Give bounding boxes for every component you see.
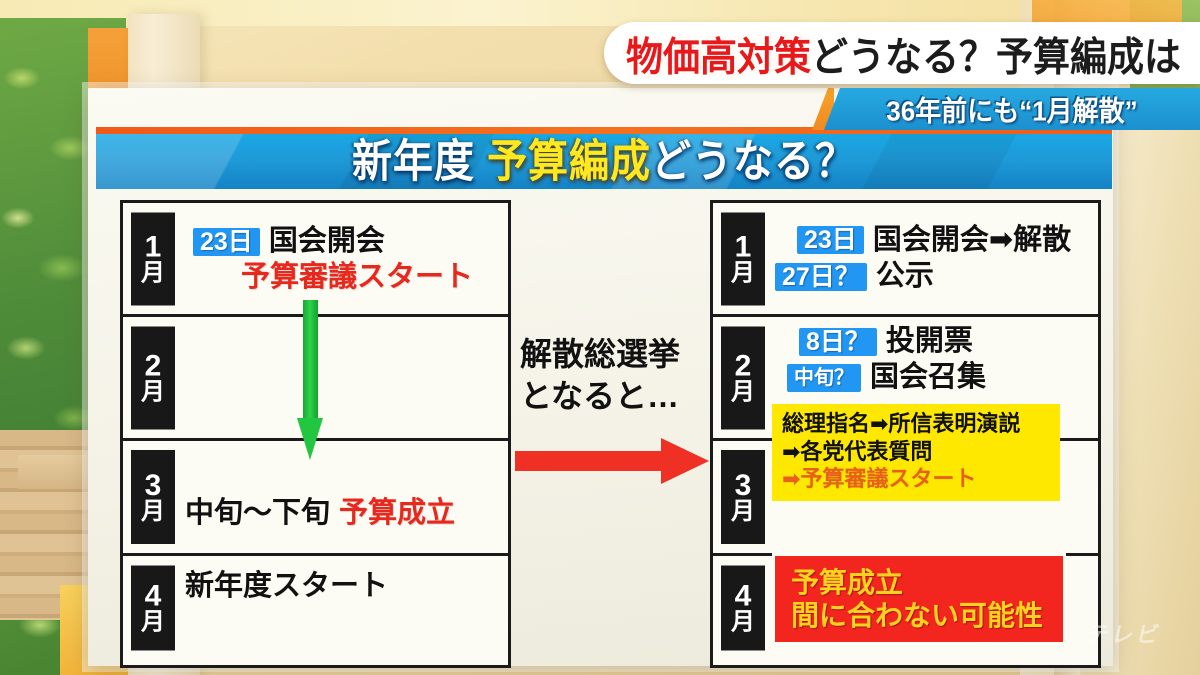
event-text: 新年度スタート (185, 570, 388, 603)
banner-title-part2: どうなる？ (651, 137, 856, 186)
month-number: 2 (145, 351, 162, 380)
month-unit: 月 (141, 500, 165, 524)
yellow-callout-box: 総理指名➡所信表明演説 ➡各党代表質問 ➡予算審議スタート (772, 404, 1060, 501)
month-unit: 月 (731, 610, 755, 634)
row-content: 中旬〜下旬 予算成立 (185, 441, 500, 553)
banner-title-text: 新年度 予算編成どうなる？ (352, 139, 856, 184)
month-chip: 2 月 (721, 326, 765, 429)
day-badge: 27日？ (775, 263, 867, 291)
banner-title-part1: 新年度 (352, 137, 487, 186)
middle-caption-line1: 解散総選挙 (520, 334, 710, 376)
wood-shelf-left (18, 455, 98, 489)
month-unit: 月 (141, 610, 165, 634)
month-number: 3 (145, 471, 162, 500)
month-number: 4 (735, 581, 752, 610)
screenshot-stage: 新年度 予算編成どうなる？ 1 月 23日 国会開会 予算審議スタート 2 (0, 0, 1200, 675)
event-text: 国会召集 (870, 361, 986, 394)
event-text: 国会開会➡解散 (873, 224, 1071, 257)
subheadline-banner: 36年前にも“1月解散” (824, 88, 1200, 130)
yellow-line-3: ➡予算審議スタート (782, 465, 1050, 493)
row-content: 23日 国会開会➡解散 27日？ 公示 (775, 203, 1090, 314)
event-text: 国会開会 (269, 225, 385, 258)
event-line-secondary: 27日？ 公示 (775, 260, 1090, 293)
month-unit: 月 (731, 500, 755, 524)
row-content (185, 317, 500, 438)
headline-text: 物価高対策どうなる？予算編成は (626, 24, 1181, 82)
arrow-head (297, 418, 323, 460)
headline-rest: どうなる？予算編成は (811, 35, 1181, 79)
down-arrow-icon (297, 300, 323, 460)
event-text: 投開票 (886, 325, 973, 358)
month-unit: 月 (141, 261, 165, 285)
arrow-shaft (515, 451, 667, 471)
month-number: 1 (145, 232, 162, 261)
month-chip: 4 月 (131, 565, 175, 650)
table-row: 4 月 新年度スタート (123, 556, 508, 659)
event-text: 中旬〜下旬 (185, 497, 330, 530)
event-text-highlight: 予算審議スタート (241, 261, 473, 294)
event-text: 公示 (876, 260, 934, 293)
month-chip: 1 月 (131, 212, 175, 305)
middle-caption: 解散総選挙 となると… (520, 334, 710, 417)
month-number: 2 (735, 351, 752, 380)
row-content: 23日 国会開会 予算審議スタート (185, 203, 500, 314)
event-line-secondary: 予算審議スタート (241, 261, 500, 294)
row-content: 新年度スタート (185, 556, 500, 659)
yellow-line-2: ➡各党代表質問 (782, 438, 1050, 466)
month-unit: 月 (731, 380, 755, 404)
chart-title-banner: 新年度 予算編成どうなる？ (96, 127, 1112, 189)
headline-highlight: 物価高対策 (626, 35, 811, 79)
headline-banner: 物価高対策どうなる？予算編成は (604, 22, 1200, 84)
banner-blue-bar: 新年度 予算編成どうなる？ (96, 134, 1112, 189)
event-line: 23日 国会開会 (193, 225, 500, 258)
month-chip: 3 月 (131, 450, 175, 544)
month-number: 3 (735, 471, 752, 500)
day-badge: 23日 (797, 226, 864, 254)
event-text-highlight: 予算成立 (339, 497, 455, 530)
month-chip: 4 月 (721, 565, 765, 650)
right-arrow-icon (515, 438, 710, 484)
day-badge: 中旬？ (787, 364, 861, 392)
red-box-line-1: 予算成立 (791, 566, 1063, 599)
event-line: 中旬〜下旬 予算成立 (185, 497, 500, 530)
month-number: 1 (735, 232, 752, 261)
month-chip: 1 月 (721, 212, 765, 305)
month-chip: 2 月 (131, 326, 175, 429)
month-number: 4 (145, 581, 162, 610)
arrow-shaft (303, 300, 318, 424)
day-badge: 8日？ (799, 328, 877, 356)
event-line: 新年度スタート (185, 570, 500, 603)
event-line: 8日？ 投開票 (799, 325, 1090, 358)
red-box-line-2: 間に合わない可能性 (791, 599, 1063, 632)
yellow-line-1: 総理指名➡所信表明演説 (782, 410, 1050, 438)
channel-watermark: テレビ (1084, 617, 1166, 649)
event-line: 23日 国会開会➡解散 (797, 224, 1090, 257)
day-badge: 23日 (193, 228, 260, 256)
month-unit: 月 (731, 261, 755, 285)
event-line-secondary: 中旬？ 国会召集 (787, 361, 1090, 394)
red-warning-box: 予算成立 間に合わない可能性 (775, 556, 1063, 642)
table-row: 1 月 23日 国会開会➡解散 27日？ 公示 (713, 203, 1098, 317)
subheadline-text: 36年前にも“1月解散” (886, 89, 1137, 128)
middle-caption-line2: となると… (520, 376, 710, 418)
month-unit: 月 (141, 380, 165, 404)
arrow-head (661, 438, 709, 484)
banner-title-highlight: 予算編成 (487, 137, 651, 186)
month-chip: 3 月 (721, 450, 765, 544)
